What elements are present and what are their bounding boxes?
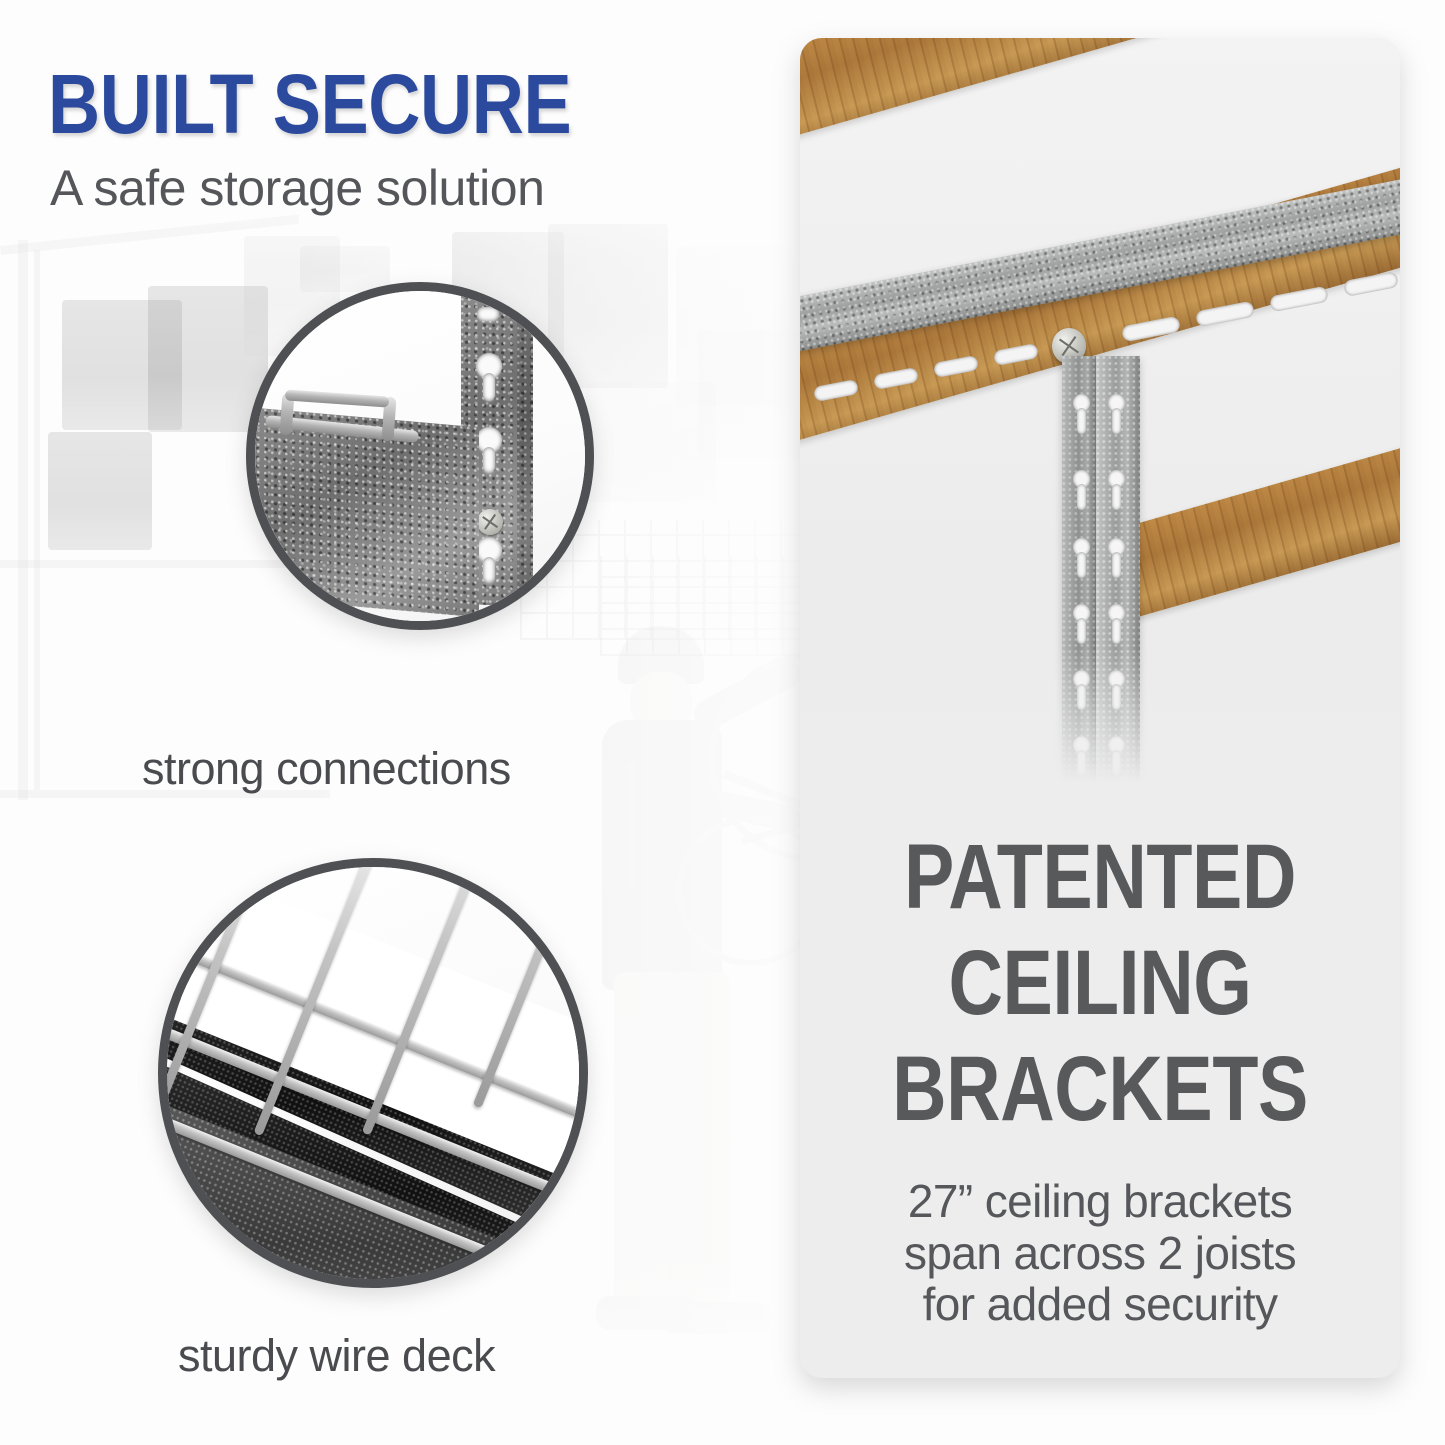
card-body-text: 27” ceiling brackets span across 2 joist… bbox=[820, 1176, 1380, 1331]
card-title-line-3: BRACKETS bbox=[854, 1046, 1346, 1132]
card-title-line-2: CEILING bbox=[854, 940, 1346, 1026]
bracket-screw bbox=[477, 509, 503, 535]
page-subtitle: A safe storage solution bbox=[50, 163, 544, 213]
feature-caption-sturdy-wire-deck: sturdy wire deck bbox=[178, 1330, 495, 1382]
infographic-page: BUILT SECURE A safe storage solution bbox=[0, 0, 1445, 1445]
card-title-line-1: PATENTED bbox=[854, 834, 1346, 920]
ceiling-joist-top bbox=[800, 38, 1400, 138]
feature-caption-strong-connections: strong connections bbox=[142, 743, 511, 795]
cyclist-silhouette bbox=[556, 620, 836, 1380]
bracket-beam-plate bbox=[255, 407, 479, 618]
ceiling-bracket-photo bbox=[800, 38, 1400, 798]
page-title: BUILT SECURE bbox=[48, 66, 571, 143]
feature-image-strong-connections bbox=[246, 282, 594, 630]
card-body-line-3: for added security bbox=[820, 1279, 1380, 1331]
card-body-line-2: span across 2 joists bbox=[820, 1228, 1380, 1280]
patented-ceiling-brackets-card: PATENTED CEILING BRACKETS 27” ceiling br… bbox=[800, 38, 1400, 1378]
bracket-upright-flange bbox=[517, 299, 533, 600]
feature-image-sturdy-wire-deck bbox=[158, 858, 588, 1288]
card-body-line-1: 27” ceiling brackets bbox=[820, 1176, 1380, 1228]
